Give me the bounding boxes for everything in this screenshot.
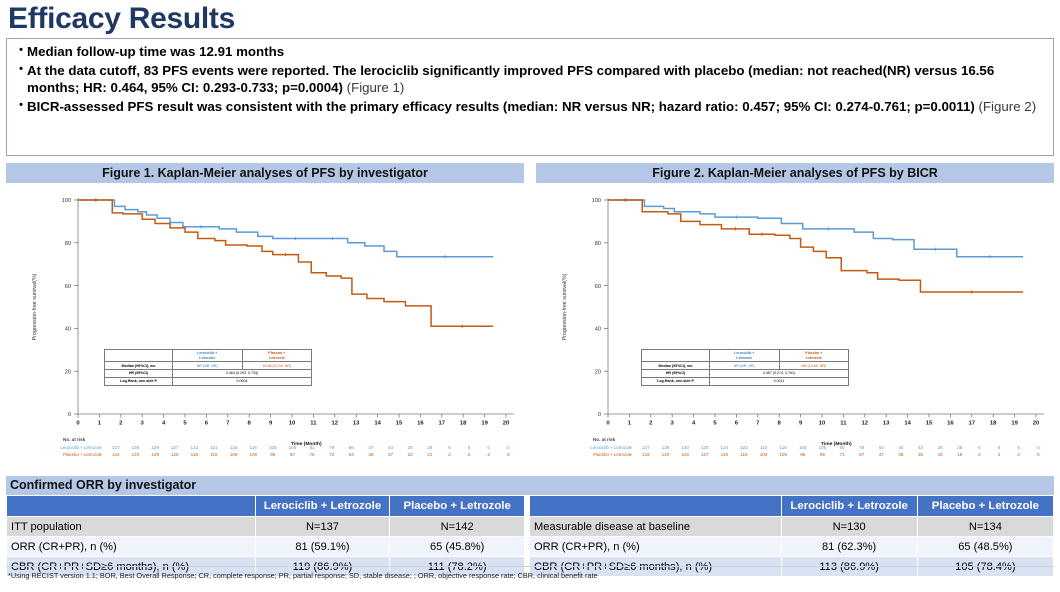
- svg-text:17: 17: [439, 421, 446, 427]
- at-risk-value: 0: [499, 452, 519, 459]
- km-table-row: HR (95%CI)0.457 (0.274, 0.761): [642, 370, 849, 378]
- bullet-dot-icon: •: [15, 98, 27, 114]
- svg-text:100: 100: [62, 198, 71, 204]
- cell-placebo: 65 (48.5%): [917, 537, 1053, 557]
- at-risk-value: 6: [970, 445, 990, 452]
- at-risk-value: 128: [675, 452, 695, 459]
- km-row-label: HR (95%CI): [642, 370, 710, 378]
- column-header-lerociclib: Lerociclib + Letrozole: [781, 496, 917, 517]
- svg-text:12: 12: [862, 421, 869, 427]
- km-table-row: Log-Rank, one-side P0.0011: [642, 378, 849, 386]
- at-risk-value: 6: [459, 445, 479, 452]
- at-risk-value: 136: [656, 445, 676, 452]
- svg-text:3: 3: [141, 421, 145, 427]
- svg-text:18: 18: [990, 421, 997, 427]
- figure-1-km-plot: 0204060801000123456789101112131415161718…: [6, 186, 524, 476]
- at-risk-row: Lerociclib + Letrozole137136129127122121…: [6, 445, 524, 452]
- at-risk-value: 116: [734, 452, 754, 459]
- at-risk-value: 2: [479, 452, 499, 459]
- at-risk-value: 109: [224, 452, 244, 459]
- at-risk-title: No. at risk: [63, 437, 85, 444]
- km-header-lerociclib: Lerociclib +Letrozole: [173, 350, 243, 362]
- svg-text:16: 16: [947, 421, 954, 427]
- row-label: ORR (CR+PR), n (%): [7, 537, 256, 557]
- svg-text:5: 5: [713, 421, 717, 427]
- svg-text:15: 15: [926, 421, 933, 427]
- svg-text:0: 0: [68, 412, 71, 418]
- at-risk-row: Placebo + Letrozole142140128127119116109…: [536, 452, 1054, 459]
- figure-2-chart: 0204060801000123456789101112131415161718…: [536, 186, 1054, 476]
- at-risk-value: 105: [793, 445, 813, 452]
- column-header-blank: [530, 496, 782, 517]
- svg-text:0: 0: [606, 421, 610, 427]
- svg-text:40: 40: [595, 327, 601, 333]
- at-risk-value: 105: [283, 445, 303, 452]
- km-table-header-row: Lerociclib +LetrozolePlacebo +Letrozole: [642, 350, 849, 362]
- at-risk-value: 129: [145, 445, 165, 452]
- bullet-item: • BICR-assessed PFS result was consisten…: [15, 98, 1045, 116]
- svg-text:14: 14: [904, 421, 911, 427]
- at-risk-value: 47: [361, 445, 381, 452]
- table-row: ITT populationN=137N=142: [7, 517, 525, 537]
- svg-text:3: 3: [671, 421, 675, 427]
- at-risk-group-label: Lerociclib + Letrozole: [556, 445, 632, 452]
- column-header-lerociclib: Lerociclib + Letrozole: [255, 496, 390, 517]
- at-risk-value: 105: [813, 445, 833, 452]
- at-risk-value: 6: [989, 445, 1009, 452]
- svg-text:4: 4: [162, 421, 166, 427]
- at-risk-value: 122: [185, 445, 205, 452]
- bullet-figure-ref: (Figure 1): [347, 80, 405, 95]
- at-risk-value: 54: [342, 452, 362, 459]
- km-table-row: HR (95%CI)0.464 (0.293, 0.733): [105, 370, 312, 378]
- at-risk-value: 105: [263, 445, 283, 452]
- bullet-text: BICR-assessed PFS result was consistent …: [27, 99, 975, 114]
- at-risk-value: 142: [636, 452, 656, 459]
- at-risk-value: 140: [656, 452, 676, 459]
- at-risk-row: Placebo + Letrozole142140129128118116109…: [6, 452, 524, 459]
- km-table-header-row: Lerociclib +LetrozolePlacebo +Letrozole: [105, 350, 312, 362]
- svg-text:20: 20: [503, 421, 510, 427]
- km-header-blank: [642, 350, 710, 362]
- at-risk-value: 81: [302, 445, 322, 452]
- at-risk-value: 137: [636, 445, 656, 452]
- svg-text:4: 4: [692, 421, 696, 427]
- at-risk-value: 47: [872, 452, 892, 459]
- km-header-blank: [105, 350, 173, 362]
- svg-text:0: 0: [76, 421, 80, 427]
- cell-lerociclib: N=137: [255, 517, 390, 537]
- km-row-value: 0.464 (0.293, 0.733): [173, 370, 312, 378]
- at-risk-value: 121: [204, 445, 224, 452]
- km-row-value-lerociclib: NR (NR, NR): [710, 362, 780, 370]
- footnote-text: *Using RECIST version 1.1; BOR, Best Ove…: [8, 571, 1048, 580]
- svg-text:0: 0: [598, 412, 601, 418]
- figure-1-chart: 0204060801000123456789101112131415161718…: [6, 186, 524, 476]
- at-risk-value: 6: [440, 445, 460, 452]
- svg-text:9: 9: [269, 421, 273, 427]
- at-risk-value: 97: [283, 452, 303, 459]
- at-risk-value: 2: [970, 452, 990, 459]
- table-header-row: Lerociclib + Letrozole Placebo + Letrozo…: [530, 496, 1054, 517]
- row-label: ORR (CR+PR), n (%): [530, 537, 782, 557]
- at-risk-value: 80: [832, 445, 852, 452]
- svg-text:80: 80: [65, 241, 71, 247]
- at-risk-value: 79: [322, 445, 342, 452]
- svg-text:6: 6: [735, 421, 739, 427]
- cell-lerociclib: 81 (62.3%): [781, 537, 917, 557]
- km-table-row: Median (95%CI), moNR (NR, NR)16.56 (12.9…: [105, 362, 312, 370]
- svg-text:1: 1: [98, 421, 102, 427]
- column-header-placebo: Placebo + Letrozole: [390, 496, 525, 517]
- km-row-value-lerociclib: NR (NR, NR): [173, 362, 243, 370]
- svg-text:1: 1: [628, 421, 632, 427]
- at-risk-value: 130: [675, 445, 695, 452]
- cell-lerociclib: 81 (59.1%): [255, 537, 390, 557]
- svg-text:5: 5: [183, 421, 187, 427]
- at-risk-value: 35: [911, 452, 931, 459]
- at-risk-value: 66: [342, 445, 362, 452]
- bullet-figure-ref: (Figure 2): [978, 99, 1036, 114]
- at-risk-value: 109: [243, 452, 263, 459]
- cell-placebo: N=134: [917, 517, 1053, 537]
- figure-2-km-plot: 0204060801000123456789101112131415161718…: [536, 186, 1054, 476]
- at-risk-value: 78: [852, 445, 872, 452]
- page-title: Efficacy Results: [8, 2, 235, 36]
- svg-text:17: 17: [969, 421, 976, 427]
- at-risk-group-label: Placebo + Letrozole: [556, 452, 632, 459]
- orr-table-measurable: Lerociclib + Letrozole Placebo + Letrozo…: [529, 495, 1054, 577]
- at-risk-value: 72: [322, 452, 342, 459]
- svg-text:10: 10: [289, 421, 296, 427]
- at-risk-value: 6: [1009, 445, 1029, 452]
- svg-text:11: 11: [840, 421, 847, 427]
- svg-text:8: 8: [248, 421, 252, 427]
- km-row-value-placebo: 16.56 (12.94, NR): [242, 362, 312, 370]
- row-label: Measurable disease at baseline: [530, 517, 782, 537]
- svg-text:2: 2: [649, 421, 653, 427]
- at-risk-value: 109: [754, 452, 774, 459]
- at-risk-value: 28: [420, 445, 440, 452]
- svg-text:11: 11: [310, 421, 317, 427]
- cell-lerociclib: N=130: [781, 517, 917, 537]
- at-risk-value: 28: [400, 445, 420, 452]
- km-header-lerociclib: Lerociclib +Letrozole: [710, 350, 780, 362]
- svg-text:20: 20: [595, 369, 601, 375]
- at-risk-value: 2: [440, 452, 460, 459]
- column-header-blank: [7, 496, 256, 517]
- svg-text:13: 13: [353, 421, 360, 427]
- cell-placebo: 65 (45.8%): [390, 537, 525, 557]
- at-risk-value: 2: [1009, 452, 1029, 459]
- svg-text:13: 13: [883, 421, 890, 427]
- table-header-row: Lerociclib + Letrozole Placebo + Letrozo…: [7, 496, 525, 517]
- at-risk-value: 130: [695, 445, 715, 452]
- at-risk-value: 118: [185, 452, 205, 459]
- svg-text:7: 7: [756, 421, 760, 427]
- figure-1-stats-table: Lerociclib +LetrozolePlacebo +LetrozoleM…: [104, 349, 312, 386]
- orr-table-itt: Lerociclib + Letrozole Placebo + Letrozo…: [6, 495, 525, 577]
- svg-text:60: 60: [65, 284, 71, 290]
- at-risk-value: 28: [930, 445, 950, 452]
- key-findings-box: • Median follow-up time was 12.91 months…: [6, 38, 1054, 156]
- at-risk-value: 116: [754, 445, 774, 452]
- at-risk-value: 0: [1029, 445, 1049, 452]
- svg-text:15: 15: [396, 421, 403, 427]
- at-risk-value: 64: [872, 445, 892, 452]
- table-row: ORR (CR+PR), n (%)81 (62.3%)65 (48.5%): [530, 537, 1054, 557]
- svg-text:2: 2: [119, 421, 123, 427]
- svg-text:20: 20: [65, 369, 71, 375]
- at-risk-values: 1371361301301241221161161051058078644543…: [636, 445, 1048, 452]
- at-risk-value: 18: [950, 452, 970, 459]
- svg-text:14: 14: [374, 421, 381, 427]
- svg-text:6: 6: [205, 421, 209, 427]
- at-risk-value: 28: [950, 445, 970, 452]
- svg-text:60: 60: [595, 284, 601, 290]
- km-row-label: Log-Rank, one-side P: [105, 378, 173, 386]
- at-risk-value: 18: [930, 452, 950, 459]
- svg-text:80: 80: [595, 241, 601, 247]
- footer-divider: [6, 566, 1054, 567]
- at-risk-value: 98: [263, 452, 283, 459]
- at-risk-value: 137: [106, 445, 126, 452]
- figure-1-header: Figure 1. Kaplan-Meier analyses of PFS b…: [6, 163, 524, 183]
- km-row-label: Log-Rank, one-side P: [642, 378, 710, 386]
- bullet-dot-icon: •: [15, 43, 27, 59]
- at-risk-value: 116: [204, 452, 224, 459]
- svg-text:Progression-free survival(%): Progression-free survival(%): [562, 273, 568, 340]
- slide-root: Efficacy Results • Median follow-up time…: [0, 0, 1060, 592]
- km-row-value: 0.0011: [710, 378, 849, 386]
- svg-text:20: 20: [1033, 421, 1040, 427]
- at-risk-value: 39: [361, 452, 381, 459]
- at-risk-value: 37: [381, 452, 401, 459]
- km-row-label: Median (95%CI), mo: [642, 362, 710, 370]
- at-risk-value: 21: [420, 452, 440, 459]
- svg-text:19: 19: [481, 421, 488, 427]
- svg-text:18: 18: [460, 421, 467, 427]
- at-risk-value: 142: [106, 452, 126, 459]
- at-risk-value: 116: [224, 445, 244, 452]
- at-risk-values: 1421401281271191161091089695716747363518…: [636, 452, 1048, 459]
- at-risk-value: 119: [715, 452, 735, 459]
- bullet-text: At the data cutoff, 83 PFS events were r…: [27, 63, 994, 96]
- km-table-row: Median (95%CI), moNR (NR, NR)NR (14.65, …: [642, 362, 849, 370]
- at-risk-value: 129: [145, 452, 165, 459]
- at-risk-value: 128: [165, 452, 185, 459]
- at-risk-value: 2: [989, 452, 1009, 459]
- at-risk-value: 140: [126, 452, 146, 459]
- bullet-item: • Median follow-up time was 12.91 months: [15, 43, 1045, 61]
- at-risk-values: 1421401291281181161091099897767254393722…: [106, 452, 518, 459]
- at-risk-values: 1371361291271221211161161051058179664744…: [106, 445, 518, 452]
- at-risk-value: 0: [1029, 452, 1049, 459]
- svg-text:40: 40: [65, 327, 71, 333]
- at-risk-value: 43: [911, 445, 931, 452]
- at-risk-value: 0: [499, 445, 519, 452]
- at-risk-value: 45: [891, 445, 911, 452]
- at-risk-value: 71: [832, 452, 852, 459]
- column-header-placebo: Placebo + Letrozole: [917, 496, 1053, 517]
- km-row-value: 0.457 (0.274, 0.761): [710, 370, 849, 378]
- at-risk-value: 127: [165, 445, 185, 452]
- bullet-text: Median follow-up time was 12.91 months: [27, 44, 284, 59]
- svg-text:19: 19: [1011, 421, 1018, 427]
- figure-2-header: Figure 2. Kaplan-Meier analyses of PFS b…: [536, 163, 1054, 183]
- at-risk-value: 2: [459, 452, 479, 459]
- at-risk-value: 116: [243, 445, 263, 452]
- at-risk-value: 22: [400, 452, 420, 459]
- svg-text:9: 9: [799, 421, 803, 427]
- at-risk-value: 108: [773, 452, 793, 459]
- at-risk-value: 36: [891, 452, 911, 459]
- at-risk-value: 136: [126, 445, 146, 452]
- at-risk-group-label: Lerociclib + Letrozole: [26, 445, 102, 452]
- km-row-label: HR (95%CI): [105, 370, 173, 378]
- svg-text:8: 8: [778, 421, 782, 427]
- km-row-value-placebo: NR (14.65, NR): [779, 362, 849, 370]
- figure-2-stats-table: Lerociclib +LetrozolePlacebo +LetrozoleM…: [641, 349, 849, 386]
- svg-text:Progression-free survival(%): Progression-free survival(%): [32, 273, 38, 340]
- at-risk-value: 116: [773, 445, 793, 452]
- bullet-dot-icon: •: [15, 62, 27, 78]
- at-risk-row: Lerociclib + Letrozole137136130130124122…: [536, 445, 1054, 452]
- km-header-placebo: Placebo +Letrozole: [779, 350, 849, 362]
- at-risk-value: 127: [695, 452, 715, 459]
- km-table-row: Log-Rank, one-side P0.0004: [105, 378, 312, 386]
- km-header-placebo: Placebo +Letrozole: [242, 350, 312, 362]
- at-risk-value: 95: [813, 452, 833, 459]
- bullet-item: • At the data cutoff, 83 PFS events were…: [15, 62, 1045, 97]
- at-risk-value: 122: [734, 445, 754, 452]
- svg-text:7: 7: [226, 421, 230, 427]
- table-row: ORR (CR+PR), n (%)81 (59.1%)65 (45.8%): [7, 537, 525, 557]
- svg-text:10: 10: [819, 421, 826, 427]
- at-risk-value: 96: [793, 452, 813, 459]
- at-risk-title: No. at risk: [593, 437, 615, 444]
- svg-text:12: 12: [332, 421, 339, 427]
- at-risk-value: 44: [381, 445, 401, 452]
- at-risk-value: 67: [852, 452, 872, 459]
- orr-section-label: Confirmed ORR by investigator: [10, 477, 196, 494]
- svg-text:100: 100: [592, 198, 601, 204]
- at-risk-value: 124: [715, 445, 735, 452]
- at-risk-value: 6: [479, 445, 499, 452]
- svg-text:16: 16: [417, 421, 424, 427]
- row-label: ITT population: [7, 517, 256, 537]
- at-risk-group-label: Placebo + Letrozole: [26, 452, 102, 459]
- km-row-label: Median (95%CI), mo: [105, 362, 173, 370]
- cell-placebo: N=142: [390, 517, 525, 537]
- km-row-value: 0.0004: [173, 378, 312, 386]
- table-row: Measurable disease at baselineN=130N=134: [530, 517, 1054, 537]
- at-risk-value: 76: [302, 452, 322, 459]
